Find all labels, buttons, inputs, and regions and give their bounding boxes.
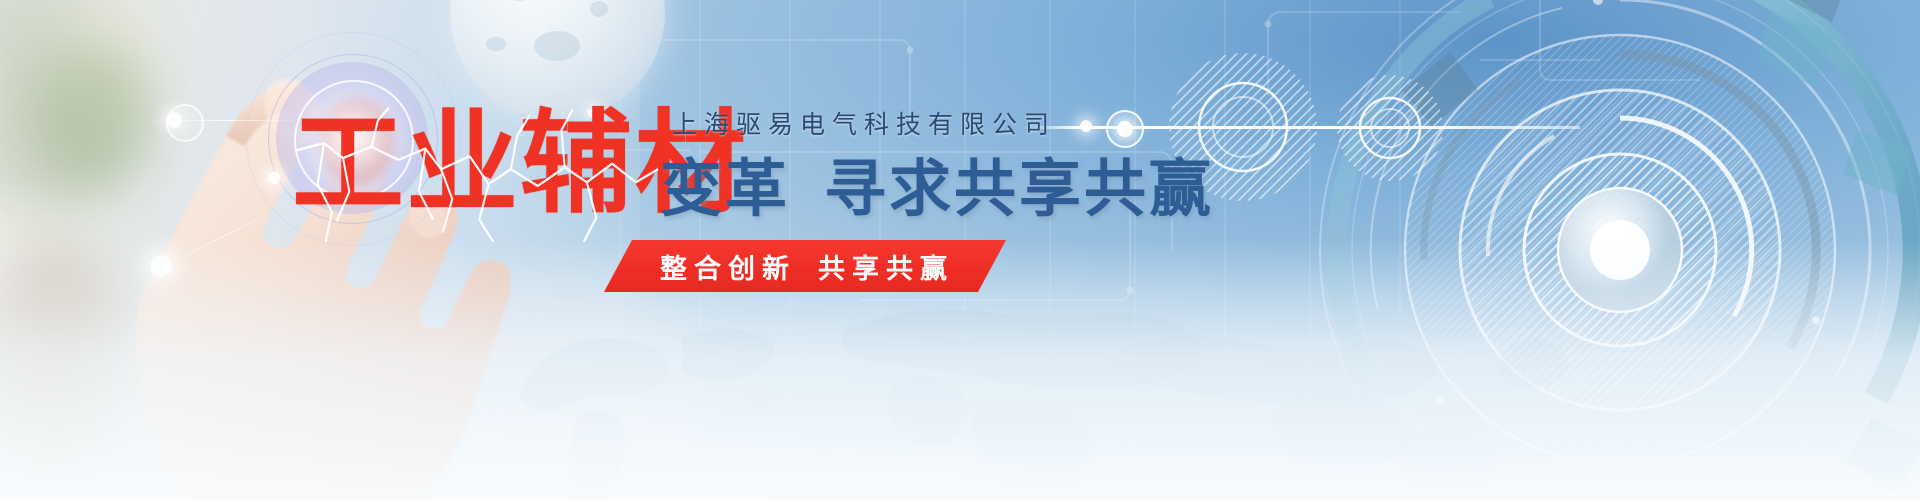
connector-node <box>166 104 204 142</box>
tagline-part-1: 变革 <box>660 152 790 225</box>
ribbon-part-2: 共享共赢 <box>818 254 954 285</box>
ribbon-part-1: 整合创新 <box>660 254 796 285</box>
ribbon-text: 整合创新共享共赢 <box>660 247 954 286</box>
spark-dot-icon <box>268 172 280 184</box>
tagline-part-2: 寻求共享共赢 <box>824 152 1214 225</box>
company-name: 上海驱易电气科技有限公司 <box>672 112 1056 137</box>
slogan-ribbon: 整合创新共享共赢 <box>604 240 1006 292</box>
hero-banner: 工业辅材 <box>0 0 1920 500</box>
connector-node <box>1106 110 1144 148</box>
tagline: 变革寻求共享共赢 <box>660 158 1214 220</box>
connector-line <box>1020 126 1580 129</box>
